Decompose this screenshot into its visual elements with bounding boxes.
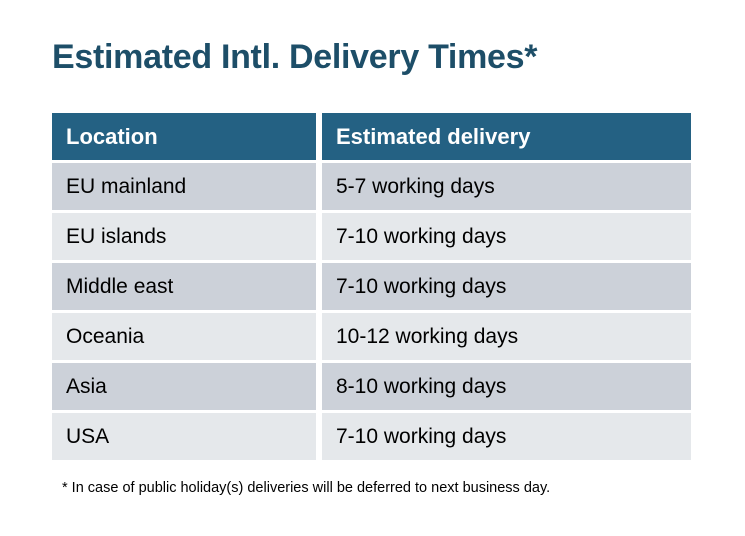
cell-estimated-delivery: 10-12 working days [322, 313, 691, 360]
cell-estimated-delivery: 8-10 working days [322, 363, 691, 410]
table-header-row: Location Estimated delivery [52, 113, 691, 160]
column-header-location: Location [52, 113, 316, 160]
cell-estimated-delivery: 7-10 working days [322, 413, 691, 460]
cell-location: USA [52, 413, 316, 460]
table-row: EU islands 7-10 working days [52, 213, 691, 260]
cell-location: EU islands [52, 213, 316, 260]
table-row: Asia 8-10 working days [52, 363, 691, 410]
cell-location: Asia [52, 363, 316, 410]
cell-estimated-delivery: 5-7 working days [322, 163, 691, 210]
table-row: USA 7-10 working days [52, 413, 691, 460]
cell-location: Oceania [52, 313, 316, 360]
delivery-times-page: Estimated Intl. Delivery Times* Location… [0, 0, 745, 536]
cell-estimated-delivery: 7-10 working days [322, 213, 691, 260]
cell-location: EU mainland [52, 163, 316, 210]
cell-location: Middle east [52, 263, 316, 310]
column-header-estimated-delivery: Estimated delivery [322, 113, 691, 160]
table-row: Oceania 10-12 working days [52, 313, 691, 360]
table-row: EU mainland 5-7 working days [52, 163, 691, 210]
page-title: Estimated Intl. Delivery Times* [52, 35, 537, 79]
cell-estimated-delivery: 7-10 working days [322, 263, 691, 310]
delivery-times-table: Location Estimated delivery EU mainland … [52, 113, 691, 460]
footnote-text: * In case of public holiday(s) deliverie… [62, 478, 550, 498]
table-row: Middle east 7-10 working days [52, 263, 691, 310]
